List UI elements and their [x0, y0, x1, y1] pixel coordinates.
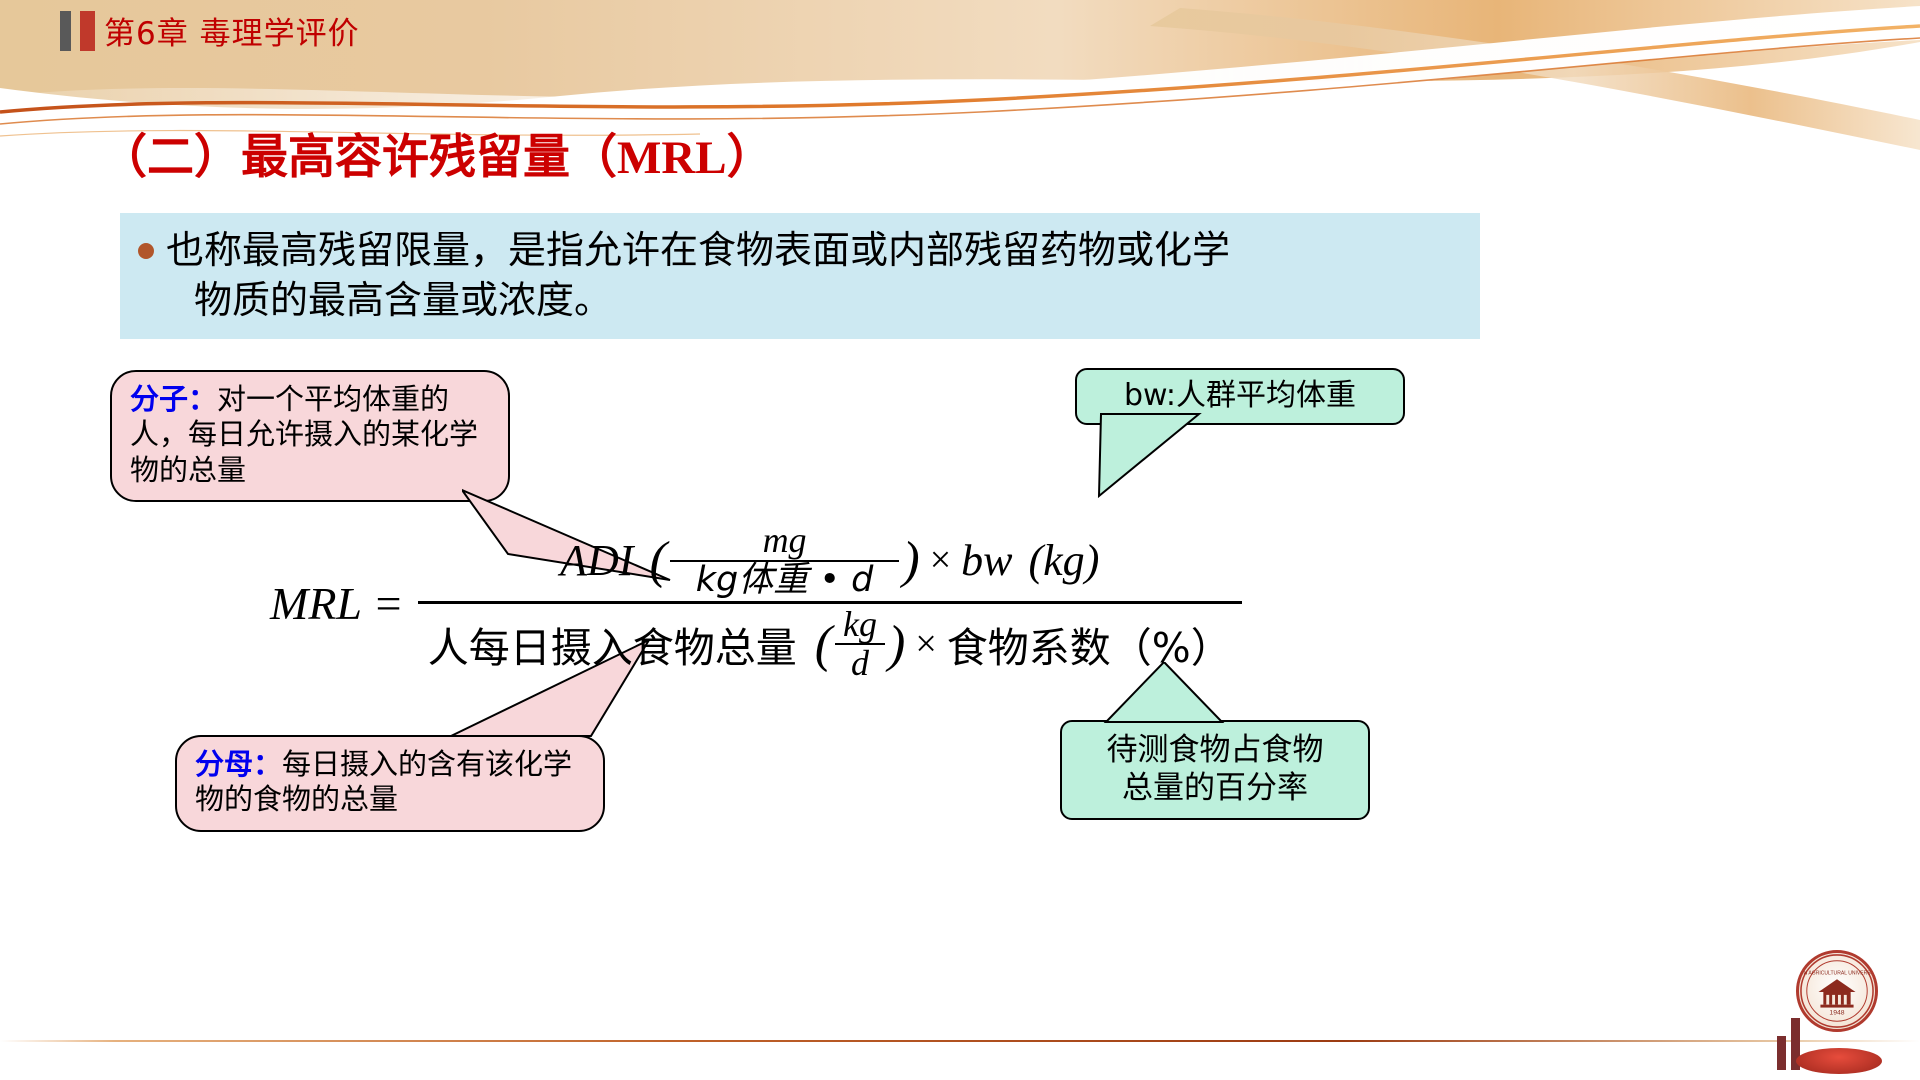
formula-denominator-times: ×: [905, 622, 946, 666]
formula-bw-unit: kg: [1043, 535, 1085, 586]
formula-fraction: ADI ( mg kg体重 • d ) × bw ( kg ) 人: [418, 520, 1242, 685]
logo-graphic: 1948 JILIN AGRICULTURAL UNIVERSITY: [1799, 952, 1875, 1030]
formula-adi-unit-denominator: kg体重 • d: [670, 562, 900, 599]
footer-bar-1: [1777, 1036, 1786, 1070]
formula-lhs: MRL =: [270, 575, 418, 630]
definition-line-1: 也称最高残留限量，是指允许在食物表面或内部残留药物或化学: [166, 225, 1230, 275]
formula-bw-unit-open: (: [1029, 535, 1044, 586]
bullet-dot-icon: [138, 243, 154, 259]
formula-percent: （%）: [1111, 614, 1232, 674]
formula-intake-unit-numerator: kg: [835, 606, 885, 644]
header-grey-bar: [60, 11, 71, 51]
slide-title-tail: ）: [727, 130, 774, 185]
formula-denominator: 人每日摄入食物总量 ( kg d ) × 食物系数 （%）: [418, 604, 1242, 686]
logo-year: 1948: [1829, 1009, 1844, 1016]
callout-bw: bw:人群平均体重: [1075, 368, 1405, 425]
formula-intake-label: 人每日摄入食物总量: [428, 614, 797, 674]
formula-adi-unit-numerator: mg: [737, 522, 833, 560]
formula-adi: ADI: [560, 535, 633, 586]
formula-intake-unit: kg d: [835, 606, 885, 684]
formula-unit-close-paren: ): [902, 531, 919, 590]
callout-bw-tail: [1093, 412, 1213, 502]
chapter-label: 第6章 毒理学评价: [104, 8, 360, 53]
callout-food-factor-line-1: 待测食物占食物: [1074, 732, 1356, 770]
callout-numerator-body: 分子：对一个平均体重的人，每日允许摄入的某化学物的总量: [110, 370, 510, 502]
formula-unit-open-paren: (: [649, 531, 666, 590]
callout-denominator-body: 分母：每日摄入的含有该化学物的食物的总量: [175, 735, 605, 832]
callout-food-factor-body: 待测食物占食物 总量的百分率: [1060, 720, 1370, 820]
definition-block: 也称最高残留限量，是指允许在食物表面或内部残留药物或化学 物质的最高含量或浓度。: [120, 213, 1480, 339]
formula-intake-open-paren: (: [815, 615, 832, 674]
callout-food-factor: 待测食物占食物 总量的百分率: [1060, 720, 1370, 820]
formula-numerator-times: ×: [920, 538, 961, 582]
slide-title-abbr: MRL: [617, 132, 727, 184]
logo-name-en: JILIN AGRICULTURAL UNIVERSITY: [1799, 970, 1875, 976]
footer-red-ellipse: [1796, 1048, 1882, 1074]
footer-divider: [0, 1040, 1920, 1042]
callout-denominator: 分母：每日摄入的含有该化学物的食物的总量: [175, 735, 605, 832]
mrl-formula: MRL = ADI ( mg kg体重 • d ) × bw ( kg ): [270, 520, 1242, 685]
university-logo: 1948 JILIN AGRICULTURAL UNIVERSITY: [1796, 950, 1878, 1032]
callout-denominator-label: 分母：: [195, 747, 282, 781]
formula-bw: bw: [961, 535, 1012, 586]
formula-bw-unit-close: ): [1085, 535, 1100, 586]
callout-food-factor-line-2: 总量的百分率: [1074, 770, 1356, 808]
formula-numerator: ADI ( mg kg体重 • d ) × bw ( kg ): [550, 520, 1109, 601]
formula-adi-unit: mg kg体重 • d: [670, 522, 900, 599]
formula-factor-label: 食物系数: [947, 614, 1111, 674]
formula-intake-unit-denominator: d: [843, 645, 877, 683]
header-red-bar: [80, 11, 95, 51]
chapter-header: 第6章 毒理学评价: [60, 8, 360, 53]
callout-numerator: 分子：对一个平均体重的人，每日允许摄入的某化学物的总量: [110, 370, 510, 502]
page-title: （二）最高容许残留量（MRL）: [100, 118, 774, 187]
callout-numerator-label: 分子：: [130, 382, 217, 416]
definition-line-2: 物质的最高含量或浓度。: [194, 275, 1230, 325]
slide-title-cn: （二）最高容许残留量（: [100, 130, 617, 185]
definition-row: 也称最高残留限量，是指允许在食物表面或内部残留药物或化学 物质的最高含量或浓度。: [138, 225, 1466, 325]
formula-intake-close-paren: ): [888, 615, 905, 674]
